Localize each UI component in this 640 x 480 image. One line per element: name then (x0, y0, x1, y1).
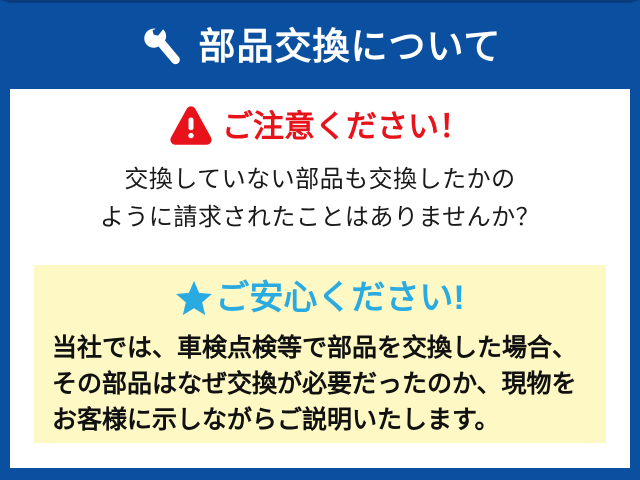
reassurance-body-line: 当社では、車検点検等で部品を交換した場合、 (52, 330, 592, 366)
reassurance-body-line: お客様に示しながらご説明いたします。 (52, 402, 592, 438)
info-card: 部品交換について ご注意ください！ 交換していない部品も交換したかの ように請求… (0, 0, 640, 480)
caution-body: 交換していない部品も交換したかの ように請求されたことはありませんか？ (10, 161, 630, 237)
warning-triangle-icon (170, 106, 212, 146)
caution-body-line: 交換していない部品も交換したかの (10, 161, 630, 199)
caution-heading-text: ご注意ください！ (222, 111, 470, 142)
header-title: 部品交換について (199, 28, 502, 65)
header-banner: 部品交換について (10, 3, 630, 89)
wrench-icon (139, 24, 185, 70)
reassurance-body: 当社では、車検点検等で部品を交換した場合、 その部品はなぜ交換が必要だったのか、… (52, 330, 592, 438)
reassurance-heading-text: ご安心ください! (215, 281, 464, 315)
caution-heading: ご注意ください！ (10, 106, 630, 146)
content-area: ご注意ください！ 交換していない部品も交換したかの ように請求されたことはありま… (10, 89, 630, 468)
reassurance-body-line: その部品はなぜ交換が必要だったのか、現物を (52, 366, 592, 402)
reassurance-heading: ご安心ください! (34, 279, 606, 317)
caution-body-line: ように請求されたことはありませんか？ (10, 199, 630, 237)
reassurance-box: ご安心ください! 当社では、車検点検等で部品を交換した場合、 その部品はなぜ交換… (34, 265, 606, 443)
star-icon (175, 279, 213, 317)
